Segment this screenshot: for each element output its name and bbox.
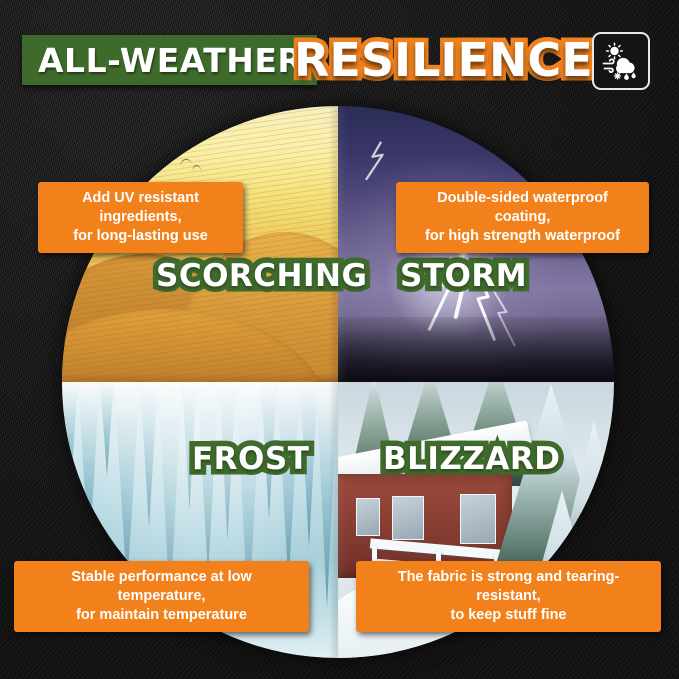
quadrant-label-storm: STORM <box>400 258 527 294</box>
cabin-window <box>392 496 424 540</box>
caption-storm: Double-sided waterproof coating, for hig… <box>396 182 649 253</box>
caption-blizzard: The fabric is strong and tearing-resista… <box>356 561 661 632</box>
page-title-primary: ALL-WEATHER <box>38 41 303 80</box>
caption-line-2: for high strength waterproof <box>408 227 637 246</box>
weather-badge <box>592 32 650 90</box>
quadrant-label-scorching: SCORCHING <box>156 258 367 294</box>
caption-line-2: for long-lasting use <box>50 227 231 246</box>
caption-line-2: to keep stuff fine <box>368 606 649 625</box>
product-feature-infographic: ALL-WEATHER RESILIENCE <box>0 0 679 679</box>
caption-frost: Stable performance at low temperature, f… <box>14 561 309 632</box>
cabin-window <box>356 498 380 536</box>
caption-line-1: Add UV resistant ingredients, <box>82 190 199 225</box>
quadrant-label-frost: FROST <box>192 441 309 477</box>
caption-line-1: Double-sided waterproof coating, <box>437 190 608 225</box>
header: ALL-WEATHER RESILIENCE <box>22 31 662 93</box>
caption-line-2: for maintain temperature <box>26 606 297 625</box>
caption-scorching: Add UV resistant ingredients, for long-l… <box>38 182 243 253</box>
page-title-accent: RESILIENCE <box>294 31 593 89</box>
title-green-bar: ALL-WEATHER <box>22 35 317 85</box>
storm-horizon <box>338 317 614 382</box>
caption-line-1: Stable performance at low temperature, <box>71 569 252 604</box>
caption-line-1: The fabric is strong and tearing-resista… <box>398 569 620 604</box>
sun-cloud-wind-snow-rain-icon <box>600 40 642 82</box>
quadrant-label-blizzard: BLIZZARD <box>383 441 560 477</box>
cabin-window <box>460 494 496 544</box>
